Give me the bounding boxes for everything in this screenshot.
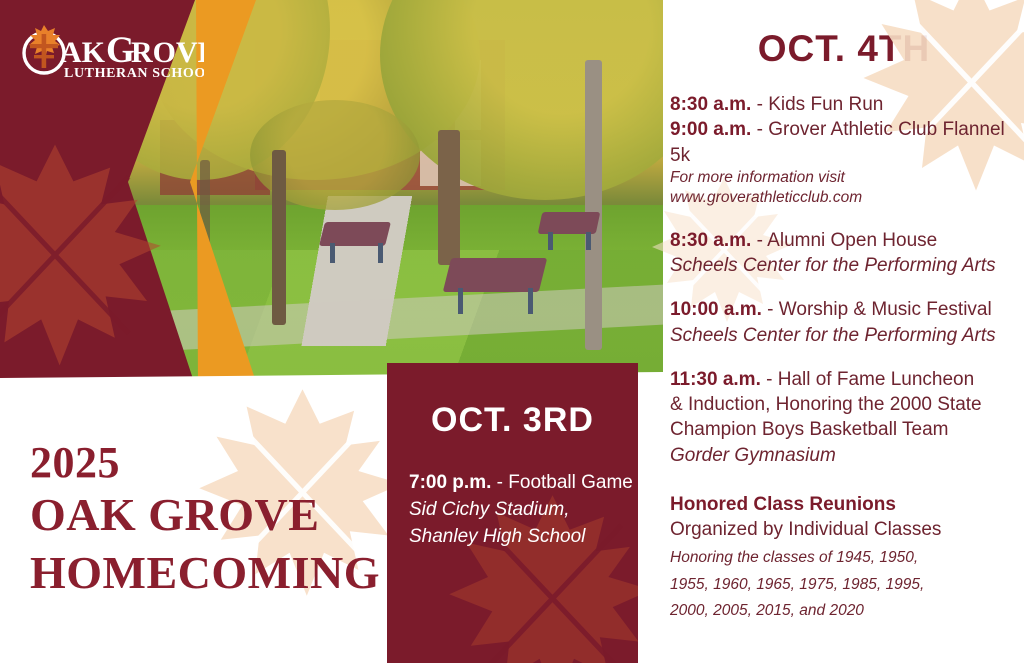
- reunions-detail-line-3: 2000, 2005, 2015, and 2020: [670, 600, 1024, 622]
- oct3-event-venue-2: Shanley High School: [409, 524, 638, 551]
- photo-bench-leg: [528, 288, 533, 314]
- reunions-detail-line-1: Honoring the classes of 1945, 1950,: [670, 547, 1024, 569]
- event-title: Alumni Open House: [767, 230, 937, 251]
- event-venue: Scheels Center for the Performing Arts: [670, 323, 1024, 348]
- photo-tree-trunk: [272, 150, 286, 325]
- event-dash: -: [751, 94, 768, 115]
- schedule-event: 8:30 a.m. - Alumni Open House Scheels Ce…: [670, 228, 1024, 279]
- oct3-event-line: 7:00 p.m. - Football Game: [409, 470, 638, 497]
- schedule-event-line: 8:30 a.m. - Kids Fun Run: [670, 92, 1024, 117]
- oct4-heading: OCT. 4TH: [664, 28, 1024, 70]
- homecoming-poster: AK G ROVE LUTHERAN SCHOOL OakGrove Luthe…: [0, 0, 1024, 663]
- photo-bench-leg: [586, 232, 591, 250]
- event-time: 9:00 a.m.: [670, 119, 751, 140]
- poster-title: 2025 OAK GROVE HOMECOMING: [30, 440, 380, 601]
- event-dash: -: [751, 119, 768, 140]
- schedule-event: 10:00 a.m. - Worship & Music Festival Sc…: [670, 297, 1024, 348]
- oct4-schedule: 8:30 a.m. - Kids Fun Run 9:00 a.m. - Gro…: [670, 92, 1024, 623]
- oct3-event-venue-1: Sid Cichy Stadium,: [409, 497, 638, 524]
- event-note-line-1: For more information visit: [670, 168, 1024, 188]
- schedule-event: 8:30 a.m. - Kids Fun Run 9:00 a.m. - Gro…: [670, 92, 1024, 209]
- oct3-event-title: Football Game: [508, 472, 633, 493]
- reunions-detail-line-2: 1955, 1960, 1965, 1975, 1985, 1995,: [670, 574, 1024, 596]
- event-time: 10:00 a.m.: [670, 299, 762, 320]
- oct4-column: OCT. 4TH 8:30 a.m. - Kids Fun Run 9:00 a…: [664, 0, 1024, 663]
- svg-text:LUTHERAN SCHOOL: LUTHERAN SCHOOL: [64, 66, 204, 81]
- oct3-event-time: 7:00 p.m.: [409, 472, 491, 493]
- school-logo: AK G ROVE LUTHERAN SCHOOL: [14, 20, 204, 82]
- title-year: 2025: [30, 440, 380, 486]
- event-title: Hall of Fame Luncheon: [778, 369, 974, 390]
- event-time: 8:30 a.m.: [670, 94, 751, 115]
- event-dash: -: [762, 299, 779, 320]
- event-venue: Scheels Center for the Performing Arts: [670, 253, 1024, 278]
- event-time: 11:30 a.m.: [670, 369, 761, 390]
- photo-bench: [443, 258, 547, 292]
- event-title: Worship & Music Festival: [779, 299, 992, 320]
- photo-tree-trunk: [438, 130, 460, 265]
- oct3-event: 7:00 p.m. - Football Game Sid Cichy Stad…: [409, 470, 638, 551]
- oak-leaf-cross-emblem: [24, 25, 64, 73]
- reunions-heading: Honored Class Reunions: [670, 492, 1024, 518]
- schedule-event-line: 8:30 a.m. - Alumni Open House: [670, 228, 1024, 253]
- schedule-event-line: 10:00 a.m. - Worship & Music Festival: [670, 297, 1024, 322]
- reunions-subheading: Organized by Individual Classes: [670, 517, 1024, 543]
- oct3-event-dash: -: [491, 472, 508, 493]
- event-title: Kids Fun Run: [768, 94, 883, 115]
- title-line-2: HOMECOMING: [30, 544, 380, 602]
- event-dash: -: [761, 369, 778, 390]
- svg-text:AK: AK: [60, 36, 106, 69]
- oct3-heading: OCT. 3RD: [387, 401, 638, 440]
- photo-bench-leg: [330, 243, 335, 263]
- event-dash: -: [751, 230, 767, 251]
- event-note-line-2: www.groverathleticclub.com: [670, 188, 1024, 208]
- schedule-event: 11:30 a.m. - Hall of Fame Luncheon & Ind…: [670, 367, 1024, 468]
- svg-text:ROVE: ROVE: [131, 36, 204, 69]
- photo-bench: [538, 212, 601, 234]
- event-continuation-2: Champion Boys Basketball Team: [670, 417, 1024, 442]
- title-line-1: OAK GROVE: [30, 486, 380, 544]
- event-continuation-1: & Induction, Honoring the 2000 State: [670, 392, 1024, 417]
- schedule-event-line: 11:30 a.m. - Hall of Fame Luncheon: [670, 367, 1024, 392]
- event-venue: Gorder Gymnasium: [670, 443, 1024, 468]
- oct3-panel: OCT. 3RD 7:00 p.m. - Football Game Sid C…: [387, 363, 638, 663]
- photo-bench-leg: [458, 288, 463, 314]
- honored-class-reunions: Honored Class Reunions Organized by Indi…: [670, 492, 1024, 623]
- photo-bench-leg: [378, 243, 383, 263]
- event-time: 8:30 a.m.: [670, 230, 751, 251]
- photo-tree-trunk: [585, 60, 602, 350]
- schedule-event-line: 9:00 a.m. - Grover Athletic Club Flannel…: [670, 117, 1024, 168]
- photo-bench-leg: [548, 232, 553, 250]
